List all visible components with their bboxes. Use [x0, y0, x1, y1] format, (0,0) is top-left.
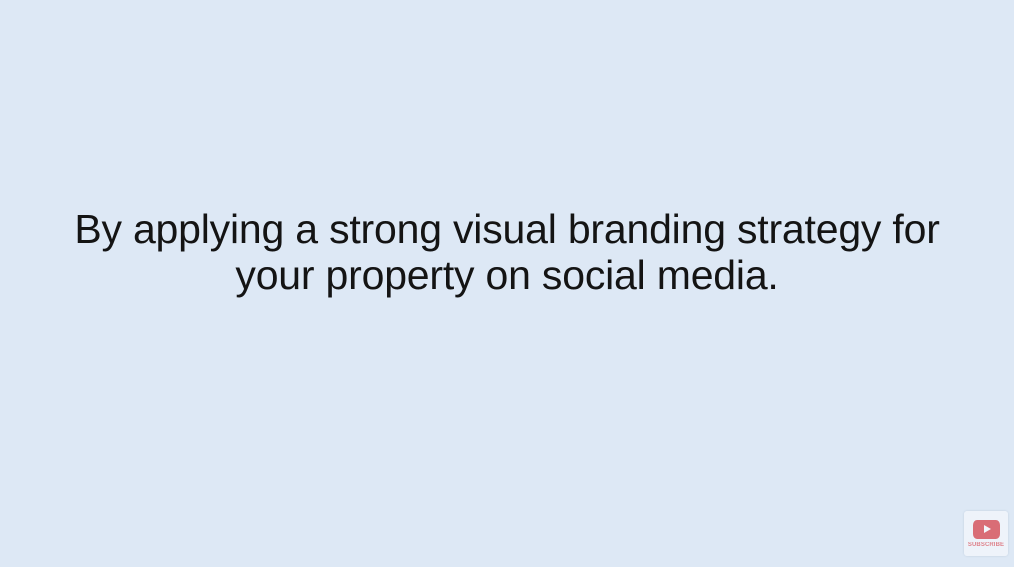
play-triangle-icon [984, 525, 991, 533]
youtube-play-icon [973, 520, 1000, 539]
subscribe-label: SUBSCRIBE [968, 542, 1004, 549]
video-slide: By applying a strong visual branding str… [0, 0, 1014, 567]
caption-block: By applying a strong visual branding str… [0, 206, 1014, 298]
subscribe-watermark[interactable]: SUBSCRIBE [962, 509, 1010, 558]
caption-line-2: your property on social media. [0, 252, 1014, 298]
subscribe-card[interactable]: SUBSCRIBE [964, 511, 1008, 556]
caption-line-1: By applying a strong visual branding str… [0, 206, 1014, 252]
